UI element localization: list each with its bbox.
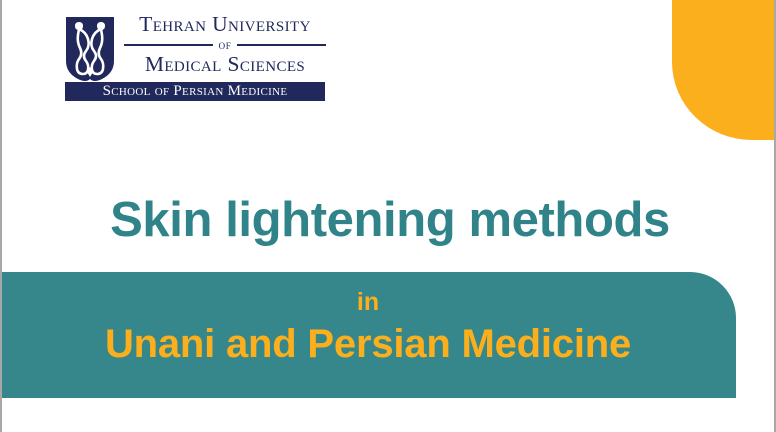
logo-line-tehran-university: Tehran University — [124, 12, 326, 37]
logo-wordmark: Tehran University of Medical Sciences — [124, 12, 326, 78]
logo-rule-left — [124, 44, 213, 46]
slide-title-connector: in — [0, 290, 736, 315]
slide-main-title: Skin lightening methods — [2, 196, 776, 245]
logo-rule-right — [237, 44, 326, 46]
logo-school-bar: School of Persian Medicine — [65, 82, 325, 101]
logo-line-of: of — [219, 38, 232, 51]
orange-decorative-shape — [672, 0, 776, 140]
teal-title-banner: in Unani and Persian Medicine — [0, 272, 736, 398]
tums-emblem-icon — [64, 15, 116, 83]
logo-line-medical-sciences: Medical Sciences — [124, 52, 326, 78]
logo-of-row: of — [124, 38, 326, 51]
slide-subtitle: Unani and Persian Medicine — [0, 324, 736, 364]
university-logo: Tehran University of Medical Sciences Sc… — [64, 12, 326, 102]
presentation-slide: Tehran University of Medical Sciences Sc… — [0, 0, 776, 432]
